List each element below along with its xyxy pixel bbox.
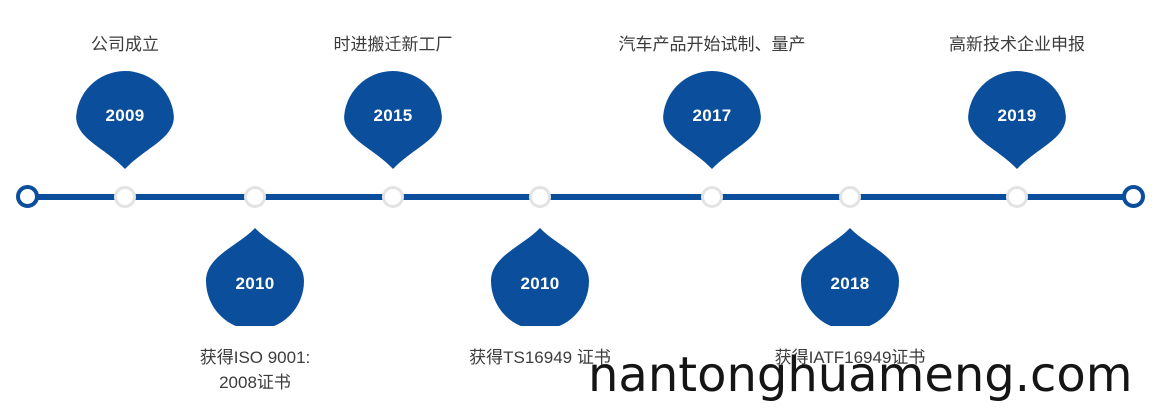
timeline-node bbox=[701, 186, 723, 208]
timeline-axis-line bbox=[24, 194, 1134, 200]
timeline-infographic: 2009公司成立2010获得ISO 9001: 2008证书2015时进搬迁新工… bbox=[0, 0, 1176, 417]
milestone-pin[interactable]: 2010 bbox=[206, 228, 304, 326]
milestone-year: 2018 bbox=[801, 274, 899, 294]
timeline-node bbox=[839, 186, 861, 208]
milestone-pin[interactable]: 2010 bbox=[491, 228, 589, 326]
milestone-pin[interactable]: 2019 bbox=[968, 71, 1066, 169]
timeline-node bbox=[382, 186, 404, 208]
timeline-node bbox=[244, 186, 266, 208]
milestone-year: 2010 bbox=[206, 274, 304, 294]
milestone-label: 时进搬迁新工厂 bbox=[243, 32, 543, 57]
milestone-label: 获得ISO 9001: 2008证书 bbox=[105, 345, 405, 395]
milestone-year: 2017 bbox=[663, 106, 761, 126]
milestone-pin[interactable]: 2015 bbox=[344, 71, 442, 169]
timeline-endpoint-node bbox=[16, 185, 39, 208]
timeline-node bbox=[1006, 186, 1028, 208]
timeline-node bbox=[529, 186, 551, 208]
milestone-year: 2015 bbox=[344, 106, 442, 126]
watermark-text: nantonghuameng.com bbox=[588, 347, 1133, 403]
milestone-label: 高新技术企业申报 bbox=[867, 32, 1167, 57]
milestone-label: 汽车产品开始试制、量产 bbox=[562, 32, 862, 57]
timeline-node bbox=[114, 186, 136, 208]
milestone-year: 2019 bbox=[968, 106, 1066, 126]
milestone-year: 2009 bbox=[76, 106, 174, 126]
milestone-year: 2010 bbox=[491, 274, 589, 294]
milestone-pin[interactable]: 2018 bbox=[801, 228, 899, 326]
timeline-endpoint-node bbox=[1122, 185, 1145, 208]
milestone-pin[interactable]: 2017 bbox=[663, 71, 761, 169]
milestone-label: 公司成立 bbox=[0, 32, 275, 57]
milestone-pin[interactable]: 2009 bbox=[76, 71, 174, 169]
